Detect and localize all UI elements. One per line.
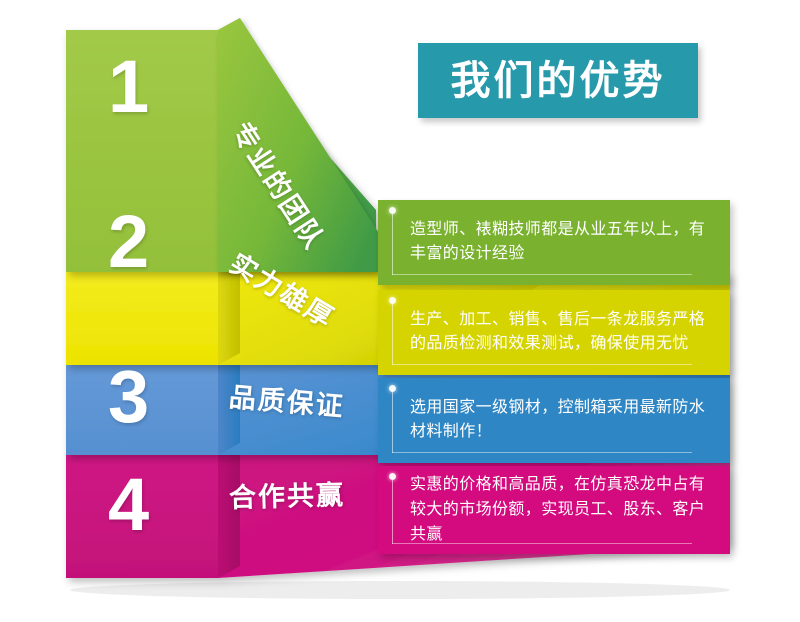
- description-text-2: 生产、加工、销售、售后一条龙服务严格的品质检测和效果测试，确保使用无忧: [410, 308, 714, 358]
- bracket-decoration-4: [392, 476, 393, 544]
- step-number-3: 3: [108, 360, 149, 434]
- step-label-4: 合作共赢: [229, 482, 346, 512]
- page-title: 我们的优势: [451, 61, 666, 101]
- bracket-decoration-2: [392, 300, 393, 365]
- page-title-banner: 我们的优势: [418, 43, 698, 118]
- step-number-2: 2: [108, 205, 149, 279]
- bracket-decoration-1: [392, 210, 393, 275]
- infographic-canvas: 我们的优势 1 2 3 4 专业的团队 实力雄厚 品质保证 合作共赢 造型师、裱…: [0, 0, 800, 622]
- description-panel-4: 实惠的价格和高品质，在仿真恐龙中占有较大的市场份额，实现员工、股东、客户共赢: [378, 466, 730, 554]
- ground-shadow: [70, 581, 730, 599]
- description-text-4: 实惠的价格和高品质，在仿真恐龙中占有较大的市场份额，实现员工、股东、客户共赢: [410, 473, 714, 547]
- bracket-decoration-3: [392, 388, 393, 453]
- description-panel-2: 生产、加工、销售、售后一条龙服务严格的品质检测和效果测试，确保使用无忧: [378, 290, 730, 375]
- description-text-1: 造型师、裱糊技师都是从业五年以上，有丰富的设计经验: [410, 218, 714, 268]
- description-text-3: 选用国家一级钢材，控制箱采用最新防水材料制作！: [410, 396, 714, 446]
- step-number-1: 1: [108, 50, 149, 124]
- description-panel-1: 造型师、裱糊技师都是从业五年以上，有丰富的设计经验: [378, 200, 730, 285]
- description-panel-3: 选用国家一级钢材，控制箱采用最新防水材料制作！: [378, 378, 730, 463]
- step-number-4: 4: [108, 468, 149, 542]
